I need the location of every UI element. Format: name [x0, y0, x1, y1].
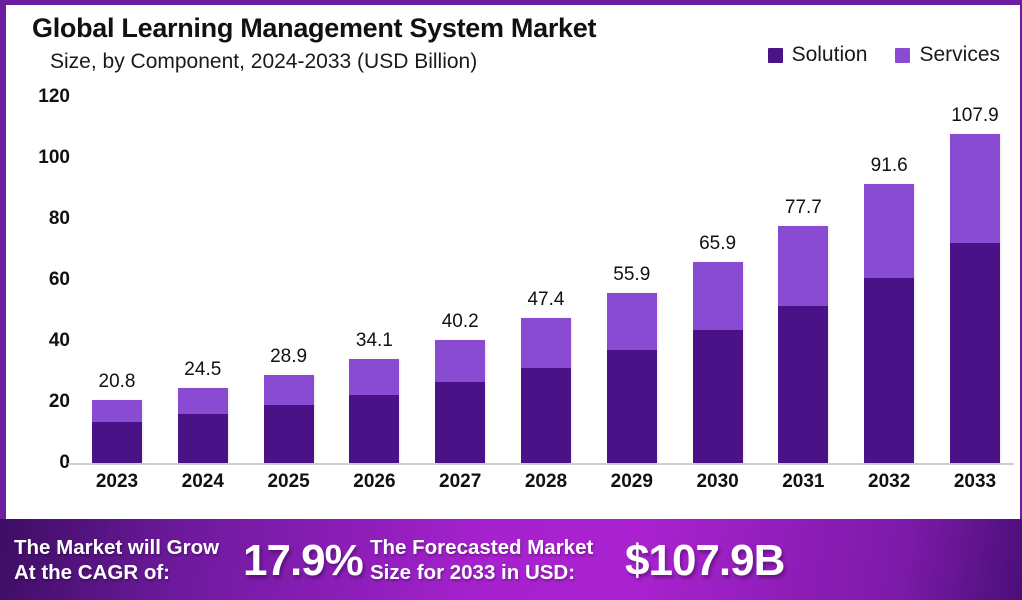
y-axis-tick: 20: [49, 391, 70, 413]
legend-label: Solution: [792, 43, 868, 67]
bar-value-label: 28.9: [270, 346, 307, 368]
bar-segment-services[interactable]: [92, 400, 142, 422]
bar-column-2031[interactable]: 77.7: [770, 97, 836, 463]
bar-segment-solution[interactable]: [864, 278, 914, 463]
x-axis-tick-2023: 2023: [84, 471, 150, 505]
bar-value-label: 77.7: [785, 197, 822, 219]
bar-segment-solution[interactable]: [435, 382, 485, 463]
bar-value-label: 24.5: [184, 359, 221, 381]
bar-column-2029[interactable]: 55.9: [599, 97, 665, 463]
x-axis-labels: 2023202420252026202720282029203020312032…: [84, 471, 1008, 505]
x-axis-tick-2032: 2032: [856, 471, 922, 505]
stacked-bar[interactable]: [178, 388, 228, 463]
chart-subtitle: Size, by Component, 2024-2033 (USD Billi…: [50, 50, 477, 74]
stacked-bar[interactable]: [349, 359, 399, 463]
stacked-bar[interactable]: [92, 400, 142, 463]
stacked-bar[interactable]: [778, 226, 828, 463]
x-axis-tick-2025: 2025: [256, 471, 322, 505]
bar-value-label: 65.9: [699, 233, 736, 255]
chart-infographic: Global Learning Management System Market…: [0, 0, 1022, 595]
x-axis-tick-2029: 2029: [599, 471, 665, 505]
bar-segment-solution[interactable]: [264, 405, 314, 463]
bar-segment-solution[interactable]: [950, 243, 1000, 463]
footer-banner: The Market will Grow At the CAGR of: 17.…: [0, 519, 1022, 600]
legend-label: Services: [919, 43, 1000, 67]
bar-column-2024[interactable]: 24.5: [170, 97, 236, 463]
y-axis-tick: 120: [38, 86, 70, 108]
stacked-bar[interactable]: [693, 262, 743, 463]
bar-column-2026[interactable]: 34.1: [341, 97, 407, 463]
forecast-caption: The Forecasted Market Size for 2033 in U…: [370, 535, 593, 585]
cagr-caption-line1: The Market will Grow: [14, 536, 219, 559]
bar-column-2032[interactable]: 91.6: [856, 97, 922, 463]
chart-header: Global Learning Management System Market…: [6, 5, 1020, 97]
bar-series-group: 20.824.528.934.140.247.455.965.977.791.6…: [84, 97, 1008, 463]
bar-column-2030[interactable]: 65.9: [685, 97, 751, 463]
bar-segment-solution[interactable]: [521, 368, 571, 463]
cagr-caption-line2: At the CAGR of:: [14, 561, 170, 584]
bar-value-label: 40.2: [442, 311, 479, 333]
stacked-bar[interactable]: [264, 375, 314, 463]
bar-segment-solution[interactable]: [92, 422, 142, 463]
x-axis-tick-2028: 2028: [513, 471, 579, 505]
y-axis-tick: 80: [49, 208, 70, 230]
bar-segment-solution[interactable]: [693, 330, 743, 463]
bar-value-label: 47.4: [527, 289, 564, 311]
bar-segment-services[interactable]: [521, 318, 571, 367]
legend-item-services[interactable]: Services: [895, 43, 1000, 67]
bar-segment-services[interactable]: [435, 340, 485, 382]
x-axis-line: [68, 463, 1014, 465]
bar-value-label: 55.9: [613, 264, 650, 286]
bar-segment-solution[interactable]: [778, 306, 828, 463]
bar-value-label: 20.8: [99, 371, 136, 393]
bar-value-label: 91.6: [871, 155, 908, 177]
bar-value-label: 107.9: [951, 105, 999, 127]
bar-column-2023[interactable]: 20.8: [84, 97, 150, 463]
forecast-caption-line2: Size for 2033 in USD:: [370, 561, 575, 584]
x-axis-tick-2030: 2030: [685, 471, 751, 505]
bar-value-label: 34.1: [356, 330, 393, 352]
cagr-value: 17.9%: [243, 539, 363, 583]
x-axis-tick-2033: 2033: [942, 471, 1008, 505]
stacked-bar[interactable]: [521, 318, 571, 463]
bar-segment-services[interactable]: [178, 388, 228, 414]
bar-segment-services[interactable]: [864, 184, 914, 278]
bar-column-2028[interactable]: 47.4: [513, 97, 579, 463]
x-axis-tick-2024: 2024: [170, 471, 236, 505]
bar-segment-services[interactable]: [950, 134, 1000, 243]
forecast-value: $107.9B: [625, 539, 784, 583]
bar-segment-services[interactable]: [349, 359, 399, 395]
bar-segment-services[interactable]: [607, 293, 657, 351]
y-axis-labels: 020406080100120: [6, 97, 78, 463]
bar-segment-services[interactable]: [778, 226, 828, 306]
bar-segment-solution[interactable]: [349, 395, 399, 463]
bar-column-2027[interactable]: 40.2: [427, 97, 493, 463]
y-axis-tick: 40: [49, 330, 70, 352]
stacked-bar[interactable]: [607, 293, 657, 463]
bar-column-2033[interactable]: 107.9: [942, 97, 1008, 463]
legend-swatch-icon: [768, 48, 783, 63]
x-axis-tick-2031: 2031: [770, 471, 836, 505]
bar-segment-solution[interactable]: [607, 350, 657, 463]
x-axis-tick-2026: 2026: [341, 471, 407, 505]
bar-segment-services[interactable]: [264, 375, 314, 406]
bar-column-2025[interactable]: 28.9: [256, 97, 322, 463]
x-axis-tick-2027: 2027: [427, 471, 493, 505]
stacked-bar[interactable]: [864, 184, 914, 463]
chart-legend: SolutionServices: [768, 43, 1000, 67]
chart-plot-area: 020406080100120 20.824.528.934.140.247.4…: [6, 97, 1020, 519]
legend-item-solution[interactable]: Solution: [768, 43, 868, 67]
y-axis-tick: 60: [49, 269, 70, 291]
bar-segment-services[interactable]: [693, 262, 743, 330]
forecast-caption-line1: The Forecasted Market: [370, 536, 593, 559]
page-title: Global Learning Management System Market: [32, 13, 596, 44]
y-axis-tick: 100: [38, 147, 70, 169]
stacked-bar[interactable]: [950, 134, 1000, 463]
bar-segment-solution[interactable]: [178, 414, 228, 463]
cagr-caption: The Market will Grow At the CAGR of:: [14, 535, 219, 585]
stacked-bar[interactable]: [435, 340, 485, 463]
legend-swatch-icon: [895, 48, 910, 63]
